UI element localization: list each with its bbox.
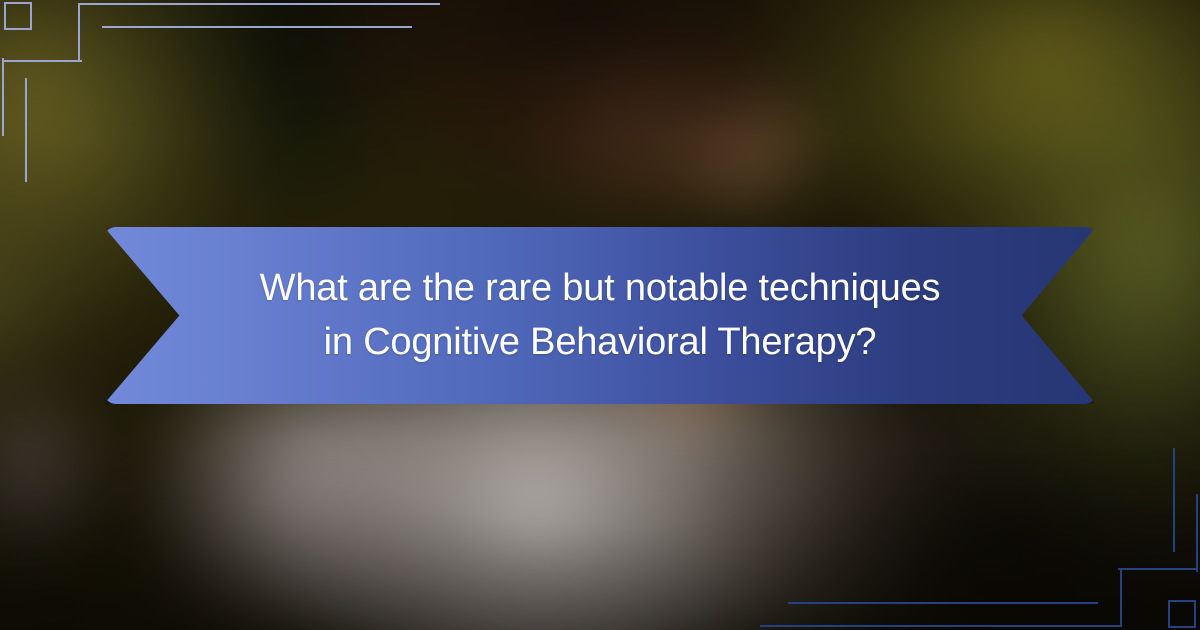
corner-bracket-bottom-right	[1040, 490, 1200, 630]
corner-elbow-bottom-right	[1110, 569, 1122, 627]
corner-line-vertical-inner-top-left	[25, 78, 27, 182]
corner-line-horizontal-outer-top-left	[86, 3, 440, 5]
social-share-card: What are the rare but notable techniques…	[0, 0, 1200, 630]
corner-elbow-inner-bottom-right	[1118, 568, 1198, 572]
headline-text: What are the rare but notable techniques…	[104, 227, 1096, 404]
corner-elbow-inner-top-left	[2, 58, 82, 62]
corner-line-horizontal-inner-bottom-right	[788, 602, 1098, 604]
corner-line-horizontal-outer-bottom-right	[760, 625, 1114, 627]
corner-line-vertical-outer-bottom-right	[1196, 494, 1198, 572]
headline-ribbon: What are the rare but notable techniques…	[104, 227, 1096, 404]
corner-line-vertical-inner-bottom-right	[1173, 448, 1175, 552]
headline-line-2: in Cognitive Behavioral Therapy?	[324, 316, 877, 370]
corner-line-vertical-outer-top-left	[2, 58, 4, 136]
corner-square-icon-bottom-right	[1168, 600, 1196, 628]
headline-line-1: What are the rare but notable techniques	[260, 262, 941, 316]
corner-bracket-top-left	[0, 0, 160, 140]
corner-line-horizontal-inner-top-left	[102, 26, 412, 28]
corner-elbow-top-left	[78, 3, 90, 61]
corner-square-icon-top-left	[4, 2, 32, 30]
